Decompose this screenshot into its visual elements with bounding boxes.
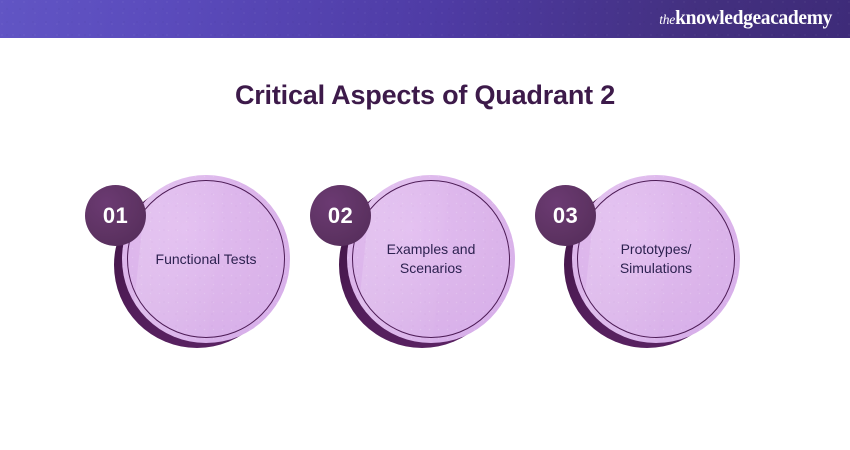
aspect-number-badge: 03 (535, 185, 596, 246)
aspect-number-badge: 01 (85, 185, 146, 246)
brand-logo[interactable]: theknowledgeacademy (659, 9, 832, 29)
page-header: theknowledgeacademy (0, 0, 850, 38)
aspect-label: Prototypes/ Simulations (572, 175, 740, 343)
logo-academy-text: academy (761, 9, 832, 29)
aspect-label: Examples and Scenarios (347, 175, 515, 343)
logo-the-text: the (659, 13, 675, 27)
page-title: Critical Aspects of Quadrant 2 (0, 80, 850, 111)
aspect-number-badge: 02 (310, 185, 371, 246)
aspect-label: Functional Tests (122, 175, 290, 343)
logo-knowledge-text: knowledge (675, 9, 761, 29)
aspects-row: Functional Tests 01 Examples and Scenari… (0, 168, 850, 353)
aspect-item-1[interactable]: Functional Tests 01 (80, 168, 295, 353)
aspect-item-3[interactable]: Prototypes/ Simulations 03 (530, 168, 745, 353)
aspect-item-2[interactable]: Examples and Scenarios 02 (305, 168, 520, 353)
